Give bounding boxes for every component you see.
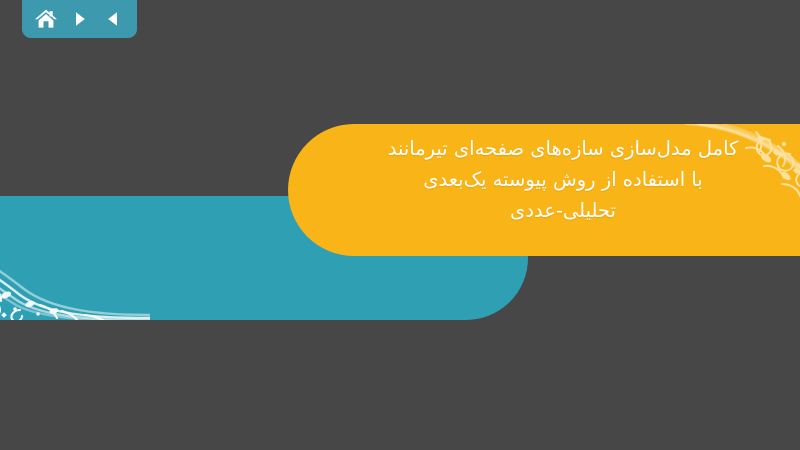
- arabesque-ornament-icon: [0, 225, 150, 320]
- navigation-bar: [22, 0, 137, 38]
- title-card: کامل مدل‌سازی سازه‌های صفحه‌ای تیرمانند …: [288, 124, 800, 256]
- back-button[interactable]: [98, 5, 128, 33]
- home-icon: [34, 8, 58, 30]
- title-line-1: کامل مدل‌سازی سازه‌های صفحه‌ای تیرمانند: [318, 133, 800, 164]
- slide-canvas: کامل مدل‌سازی سازه‌های صفحه‌ای تیرمانند …: [0, 0, 800, 450]
- back-triangle-icon: [104, 10, 122, 28]
- home-button[interactable]: [31, 5, 61, 33]
- title-line-2: با استفاده از روش پیوسته یک‌بعدی: [318, 164, 800, 195]
- forward-button[interactable]: [65, 5, 95, 33]
- page-title: کامل مدل‌سازی سازه‌های صفحه‌ای تیرمانند …: [318, 133, 800, 226]
- forward-triangle-icon: [71, 10, 89, 28]
- title-line-3: تحلیلی-عددی: [318, 195, 800, 226]
